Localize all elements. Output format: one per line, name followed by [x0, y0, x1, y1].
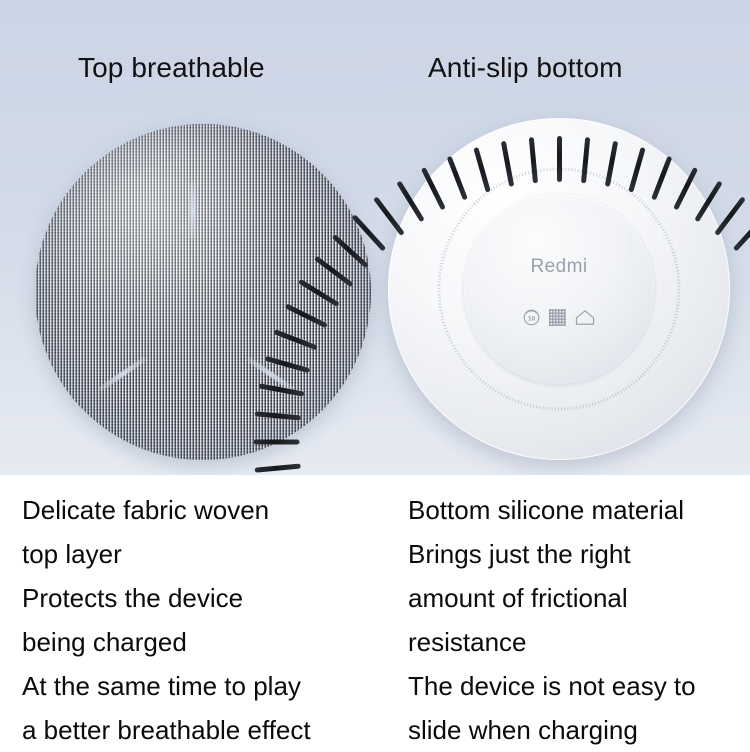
feature-line: Protects the device	[22, 576, 375, 620]
highlight-streak-top	[190, 180, 196, 240]
silicone-bottom-image: Redmi 10	[388, 118, 730, 460]
heading-top-breathable: Top breathable	[78, 52, 265, 84]
feature-column-left: Delicate fabric woven top layer Protects…	[0, 475, 375, 750]
home-outline-icon	[575, 309, 595, 326]
vent-slot	[557, 136, 562, 182]
vent-slot	[373, 196, 405, 236]
feature-line: being charged	[22, 620, 375, 664]
feature-line: The device is not easy to	[408, 664, 750, 708]
inner-branding-disc: Redmi 10	[464, 194, 654, 384]
feature-column-right: Bottom silicone material Brings just the…	[375, 475, 750, 750]
vent-slot	[732, 214, 750, 251]
feature-line: resistance	[408, 620, 750, 664]
feature-line: slide when charging	[408, 708, 750, 752]
vent-slot	[253, 440, 299, 445]
certification-icon-row: 10	[464, 309, 654, 326]
feature-text-panel: Delicate fabric woven top layer Protects…	[0, 475, 750, 750]
vent-slot	[604, 141, 617, 187]
china-rohs-10-icon: 10	[523, 309, 540, 326]
heading-anti-slip-bottom: Anti-slip bottom	[428, 52, 623, 84]
brand-label: Redmi	[464, 256, 654, 278]
feature-line: top layer	[22, 532, 375, 576]
vent-slot	[500, 141, 513, 187]
feature-line: Brings just the right	[408, 532, 750, 576]
svg-text:10: 10	[528, 316, 536, 323]
vent-slot	[714, 196, 746, 236]
vent-slot	[254, 464, 300, 473]
feature-line: Delicate fabric woven	[22, 488, 375, 532]
feature-line: At the same time to play	[22, 664, 375, 708]
vent-slot	[581, 137, 590, 183]
feature-line: Bottom silicone material	[408, 488, 750, 532]
qr-code-icon	[549, 309, 566, 326]
feature-line: amount of frictional	[408, 576, 750, 620]
feature-line: a better breathable effect	[22, 708, 375, 752]
vent-slot	[528, 137, 537, 183]
product-photo-panel: Top breathable Anti-slip bottom Redmi 10	[0, 0, 750, 475]
